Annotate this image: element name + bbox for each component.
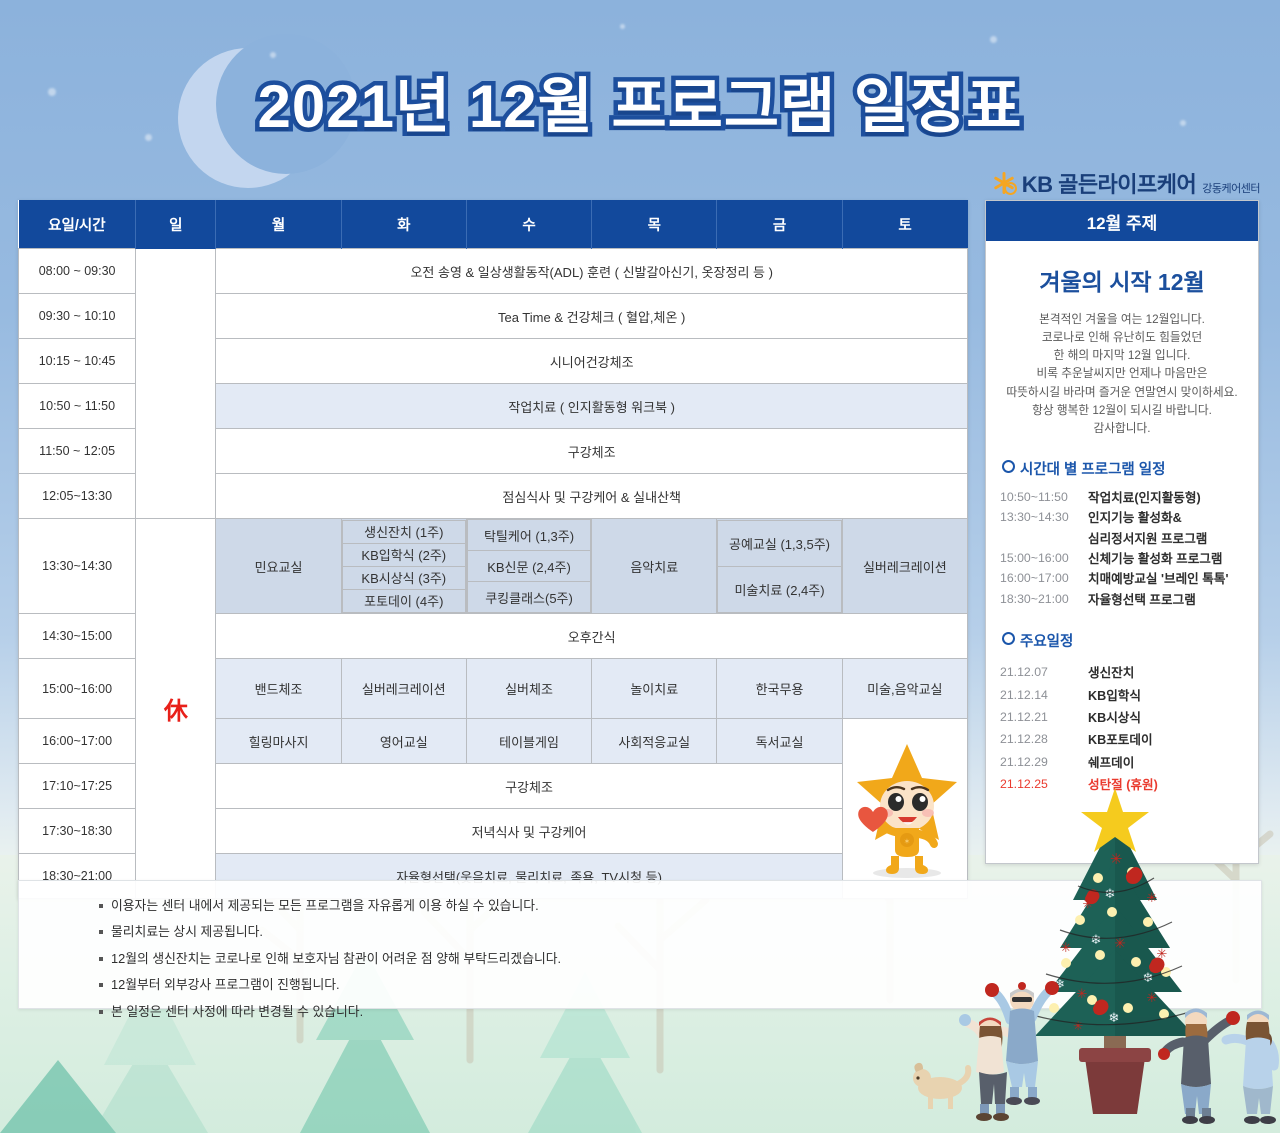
section-title-key-events: 주요일정 xyxy=(1002,630,1258,651)
note-item: 12월의 생신잔치는 코로나로 인해 보호자님 참관이 어려운 점 양해 부탁드… xyxy=(99,952,1261,965)
desc-line: 항상 행복한 12월이 되시길 바랍니다. xyxy=(996,402,1248,420)
row-activity: 오후간식 xyxy=(216,614,968,659)
item-date: 21.12.14 xyxy=(1000,685,1088,707)
row-time: 11:50 ~ 12:05 xyxy=(19,429,136,474)
row-activity: 점심식사 및 구강케어 & 실내산책 xyxy=(216,474,968,519)
item-date: 21.12.28 xyxy=(1000,729,1088,751)
cell-mon: 밴드체조 xyxy=(216,659,341,719)
cell-fri: 한국무용 xyxy=(717,659,842,719)
list-item: 16:00~17:00 치매예방교실 '브레인 톡톡' xyxy=(1000,569,1258,589)
col-header-thu: 목 xyxy=(592,200,717,249)
circle-bullet-icon xyxy=(1002,632,1015,645)
sub-cell: 공예교실 (1,3,5주) xyxy=(718,520,841,566)
item-name: 심리정서지원 프로그램 xyxy=(1088,529,1207,549)
list-item: 21.12.07 생신잔치 xyxy=(1000,662,1258,684)
sub-cell: KB신문 (2,4주) xyxy=(467,551,590,582)
item-time: 16:00~17:00 xyxy=(1000,569,1088,589)
panel-description: 본격적인 겨울을 여는 12월입니다. 코로나로 인해 유난히도 힘들었던 한 … xyxy=(996,311,1248,438)
item-name: 쉐프데이 xyxy=(1088,752,1134,774)
item-name: 생신잔치 xyxy=(1088,662,1134,684)
desc-line: 본격적인 겨울을 여는 12월입니다. xyxy=(996,311,1248,329)
item-time: 18:30~21:00 xyxy=(1000,590,1088,610)
note-item: 물리치료는 상시 제공됩니다. xyxy=(99,925,1261,938)
col-header-wed: 수 xyxy=(466,200,591,249)
table-header-row: 요일/시간 일 월 화 수 목 금 토 xyxy=(19,200,968,249)
desc-line: 감사합니다. xyxy=(996,420,1248,438)
row-time: 08:00 ~ 09:30 xyxy=(19,249,136,294)
item-name: 자율형선택 프로그램 xyxy=(1088,590,1196,610)
poster-header: 2021년 12월 프로그램 일정표 KB 골든라이프케어 강동케어센터 xyxy=(0,0,1280,200)
row-time: 17:10~17:25 xyxy=(19,764,136,809)
logo-brand-text: KB 골든라이프케어 xyxy=(1022,167,1197,199)
col-header-time: 요일/시간 xyxy=(19,200,136,249)
row-activity: 저녁식사 및 구강케어 xyxy=(216,809,842,854)
note-item: 본 일정은 센터 사정에 따라 변경될 수 있습니다. xyxy=(99,1005,1261,1018)
row-activity: Tea Time & 건강체크 ( 혈압,체온 ) xyxy=(216,294,968,339)
item-name: 신체기능 활성화 프로그램 xyxy=(1088,549,1222,569)
cell-wed: 테이블게임 xyxy=(466,719,591,764)
row-time: 16:00~17:00 xyxy=(19,719,136,764)
row-activity: 오전 송영 & 일상생활동작(ADL) 훈련 ( 신발갈아신기, 옷장정리 등 … xyxy=(216,249,968,294)
cell-tue: 영어교실 xyxy=(341,719,466,764)
list-item: 18:30~21:00 자율형선택 프로그램 xyxy=(1000,590,1258,610)
sub-cell: 쿠킹클래스(5주) xyxy=(467,582,590,613)
row-time: 09:30 ~ 10:10 xyxy=(19,294,136,339)
cell-thu: 사회적응교실 xyxy=(592,719,717,764)
sub-cell: KB입학식 (2주) xyxy=(342,543,465,566)
sub-cell: 미술치료 (2,4주) xyxy=(718,566,841,612)
notes-list: 이용자는 센터 내에서 제공되는 모든 프로그램을 자유롭게 이용 하실 수 있… xyxy=(19,881,1261,1018)
svg-text:✶: ✶ xyxy=(903,837,910,846)
table-row: 08:00 ~ 09:30 오전 송영 & 일상생활동작(ADL) 훈련 ( 신… xyxy=(19,249,968,294)
list-item: 15:00~16:00 신체기능 활성화 프로그램 xyxy=(1000,549,1258,569)
kb-star-mark-icon xyxy=(992,171,1016,195)
cell-thu: 음악치료 xyxy=(592,519,717,614)
table-row-complex: 13:30~14:30 休 민요교실 생신잔치 (1주) KB입학식 (2주) … xyxy=(19,519,968,614)
mascot-cell: ✶ xyxy=(842,719,967,899)
key-events-list: 21.12.07 생신잔치 21.12.14 KB입학식 21.12.21 KB… xyxy=(1000,662,1258,796)
cell-wed-stack: 탁틸케어 (1,3주) KB신문 (2,4주) 쿠킹클래스(5주) xyxy=(466,519,591,614)
item-name: 인지기능 활성화& xyxy=(1088,508,1182,528)
row-time: 13:30~14:30 xyxy=(19,519,136,614)
list-item: 21.12.14 KB입학식 xyxy=(1000,685,1258,707)
sunday-rest-cell: 休 xyxy=(136,519,216,899)
list-item: 21.12.21 KB시상식 xyxy=(1000,707,1258,729)
cell-fri: 독서교실 xyxy=(717,719,842,764)
item-time: 15:00~16:00 xyxy=(1000,549,1088,569)
item-time: 10:50~11:50 xyxy=(1000,488,1088,508)
desc-line: 따뜻하시길 바라며 즐거운 연말연시 맞이하세요. xyxy=(996,384,1248,402)
sunday-empty-cell xyxy=(136,249,216,519)
cell-tue-stack: 생신잔치 (1주) KB입학식 (2주) KB시상식 (3주) 포토데이 (4주… xyxy=(341,519,466,614)
december-theme-panel: 12월 주제 겨울의 시작 12월 본격적인 겨울을 여는 12월입니다. 코로… xyxy=(985,200,1259,864)
item-name: 작업치료(인지활동형) xyxy=(1088,488,1201,508)
row-time: 10:15 ~ 10:45 xyxy=(19,339,136,384)
note-item: 12월부터 외부강사 프로그램이 진행됩니다. xyxy=(99,978,1261,991)
desc-line: 비록 추운날씨지만 언제나 마음만은 xyxy=(996,365,1248,383)
cell-thu: 놀이치료 xyxy=(592,659,717,719)
item-name: KB포토데이 xyxy=(1088,729,1153,751)
section-title-time-schedule: 시간대 별 프로그램 일정 xyxy=(1002,458,1258,479)
desc-line: 코로나로 인해 유난히도 힘들었던 xyxy=(996,329,1248,347)
row-time: 15:00~16:00 xyxy=(19,659,136,719)
panel-theme-title: 겨울의 시작 12월 xyxy=(986,263,1258,297)
item-name: KB시상식 xyxy=(1088,707,1141,729)
cell-sat: 실버레크레이션 xyxy=(842,519,967,614)
cell-sat: 미술,음악교실 xyxy=(842,659,967,719)
cell-wed: 실버체조 xyxy=(466,659,591,719)
item-name: 성탄절 (휴원) xyxy=(1088,774,1158,796)
cell-fri-stack: 공예교실 (1,3,5주) 미술치료 (2,4주) xyxy=(717,519,842,614)
list-item: 10:50~11:50 작업치료(인지활동형) xyxy=(1000,488,1258,508)
cell-mon: 민요교실 xyxy=(216,519,341,614)
row-activity: 구강체조 xyxy=(216,764,842,809)
row-activity: 시니어건강체조 xyxy=(216,339,968,384)
cell-mon: 힐링마사지 xyxy=(216,719,341,764)
item-name: KB입학식 xyxy=(1088,685,1141,707)
circle-bullet-icon xyxy=(1002,460,1015,473)
item-time: 13:30~14:30 xyxy=(1000,508,1088,528)
time-schedule-list: 10:50~11:50 작업치료(인지활동형) 13:30~14:30 인지기능… xyxy=(1000,488,1258,610)
list-item-holiday: 21.12.25 성탄절 (휴원) xyxy=(1000,774,1258,796)
sub-cell: KB시상식 (3주) xyxy=(342,566,465,589)
logo-center-text: 강동케어센터 xyxy=(1202,180,1260,199)
row-time: 12:05~13:30 xyxy=(19,474,136,519)
col-header-sat: 토 xyxy=(842,200,967,249)
list-item: 심리정서지원 프로그램 xyxy=(1000,529,1258,549)
item-name: 치매예방교실 '브레인 톡톡' xyxy=(1088,569,1228,589)
item-date: 21.12.21 xyxy=(1000,707,1088,729)
col-header-tue: 화 xyxy=(341,200,466,249)
col-header-fri: 금 xyxy=(717,200,842,249)
kb-logo-icon: KB 골든라이프케어 강동케어센터 xyxy=(992,167,1260,199)
list-item: 21.12.28 KB포토데이 xyxy=(1000,729,1258,751)
panel-header: 12월 주제 xyxy=(986,201,1258,241)
row-activity: 구강체조 xyxy=(216,429,968,474)
notes-box: 이용자는 센터 내에서 제공되는 모든 프로그램을 자유롭게 이용 하실 수 있… xyxy=(18,880,1262,1009)
item-date: 21.12.25 xyxy=(1000,774,1088,796)
sub-cell: 포토데이 (4주) xyxy=(342,589,465,612)
desc-line: 한 해의 마지막 12월 입니다. xyxy=(996,347,1248,365)
row-time: 10:50 ~ 11:50 xyxy=(19,384,136,429)
col-header-mon: 월 xyxy=(216,200,341,249)
program-schedule-table: 요일/시간 일 월 화 수 목 금 토 08:00 ~ 09:30 오전 송영 … xyxy=(18,200,968,899)
item-date: 21.12.29 xyxy=(1000,752,1088,774)
page-title: 2021년 12월 프로그램 일정표 xyxy=(0,58,1280,145)
note-item: 이용자는 센터 내에서 제공되는 모든 프로그램을 자유롭게 이용 하실 수 있… xyxy=(99,899,1261,912)
row-time: 14:30~15:00 xyxy=(19,614,136,659)
cell-tue: 실버레크레이션 xyxy=(341,659,466,719)
sub-cell: 생신잔치 (1주) xyxy=(342,520,465,543)
row-activity: 작업치료 ( 인지활동형 워크북 ) xyxy=(216,384,968,429)
sub-cell: 탁틸케어 (1,3주) xyxy=(467,520,590,551)
list-item: 21.12.29 쉐프데이 xyxy=(1000,752,1258,774)
row-time: 17:30~18:30 xyxy=(19,809,136,854)
list-item: 13:30~14:30 인지기능 활성화& xyxy=(1000,508,1258,528)
star-mascot-icon: ✶ xyxy=(843,732,967,882)
col-header-sun: 일 xyxy=(136,200,216,249)
item-date: 21.12.07 xyxy=(1000,662,1088,684)
